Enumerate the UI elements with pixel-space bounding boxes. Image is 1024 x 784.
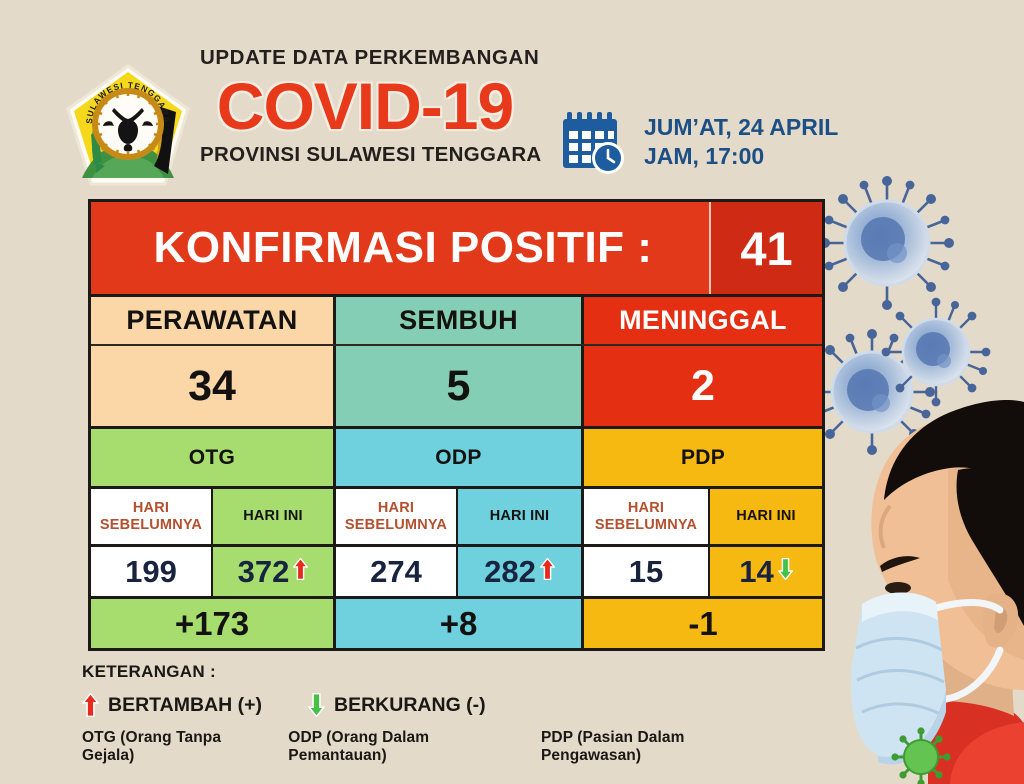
konfirmasi-label: KONFIRMASI POSITIF : [91,202,711,294]
arrow-up-icon [540,558,555,580]
category-pdp: PDP [584,429,822,486]
numbers-row: 199 372 274 282 15 14 [91,544,822,596]
page-title: COVID-19 [200,73,530,139]
status-value-sembuh: 5 [336,346,584,426]
otg-prev-value: 199 [91,547,213,596]
odp-today-label: HARI INI [458,489,584,544]
subheader-row: HARI SEBELUMNYA HARI INI HARI SEBELUMNYA… [91,486,822,544]
date-line-2: JAM, 17:00 [644,142,838,171]
otg-prev-label: HARI SEBELUMNYA [91,489,213,544]
legend-block: KETERANGAN : BERTAMBAH (+) BERKURANG (-)… [82,662,782,765]
arrow-down-icon [308,693,325,717]
pdp-delta: -1 [584,599,822,648]
status-label-sembuh: SEMBUH [336,297,584,344]
konfirmasi-value: 41 [711,202,822,294]
category-row: OTG ODP PDP [91,426,822,486]
status-label-perawatan: PERAWATAN [91,297,336,344]
odp-today-value-cell: 282 [458,547,584,596]
title-block: UPDATE DATA PERKEMBANGAN COVID-19 PROVIN… [200,48,530,165]
arrow-down-icon [778,558,793,580]
otg-today-value: 372 [238,554,290,590]
status-value-meninggal: 2 [584,346,822,426]
legend-arrow-row: BERTAMBAH (+) BERKURANG (-) [82,693,782,717]
date-line-1: JUM’AT, 24 APRIL [644,113,838,142]
konfirmasi-row: KONFIRMASI POSITIF : 41 [91,202,822,294]
otg-today-value-cell: 372 [213,547,336,596]
status-label-meninggal: MENINGGAL [584,297,822,344]
odp-delta: +8 [336,599,584,648]
legend-increase-label: BERTAMBAH (+) [108,694,262,717]
legend-abbr-odp: ODP (Orang Dalam Pemantauan) [288,729,525,765]
arrow-up-icon [82,693,99,717]
legend-increase: BERTAMBAH (+) [82,693,262,717]
otg-delta: +173 [91,599,336,648]
pdp-today-value-cell: 14 [710,547,822,596]
status-value-perawatan: 34 [91,346,336,426]
date-time-block: JUM’AT, 24 APRIL JAM, 17:00 [560,108,838,176]
pdp-today-label: HARI INI [710,489,822,544]
delta-row: +173 +8 -1 [91,596,822,648]
pdp-prev-value: 15 [584,547,710,596]
legend-title: KETERANGAN : [82,662,782,682]
header-kicker: UPDATE DATA PERKEMBANGAN [200,48,530,69]
pdp-prev-label: HARI SEBELUMNYA [584,489,710,544]
virus-particle-group [809,176,990,455]
odp-prev-value: 274 [336,547,458,596]
date-text: JUM’AT, 24 APRIL JAM, 17:00 [644,113,838,172]
status-label-row: PERAWATAN SEMBUH MENINGGAL [91,294,822,344]
legend-abbr-otg: OTG (Orang Tanpa Gejala) [82,729,272,765]
odp-prev-label: HARI SEBELUMNYA [336,489,458,544]
pdp-today-value: 14 [739,554,773,590]
green-virus-icon [891,727,950,784]
odp-today-value: 282 [484,554,536,590]
arrow-up-icon [293,558,308,580]
covid-stats-table: KONFIRMASI POSITIF : 41 PERAWATAN SEMBUH… [88,199,825,651]
legend-abbreviations: OTG (Orang Tanpa Gejala) ODP (Orang Dala… [82,729,782,765]
category-odp: ODP [336,429,584,486]
category-otg: OTG [91,429,336,486]
status-value-row: 34 5 2 [91,344,822,426]
otg-today-label: HARI INI [213,489,336,544]
legend-decrease: BERKURANG (-) [308,693,486,717]
calendar-clock-icon [560,108,630,176]
sulawesi-tenggara-emblem-icon: SULAWESI TENGGARA [62,62,194,194]
masked-man-illustration [851,400,1024,784]
header-province: PROVINSI SULAWESI TENGGARA [200,145,530,166]
legend-decrease-label: BERKURANG (-) [334,694,486,717]
header: SULAWESI TENGGARA UPDATE DATA PERKEMBANG… [0,0,1024,196]
legend-abbr-pdp: PDP (Pasian Dalam Pengawasan) [541,729,782,765]
